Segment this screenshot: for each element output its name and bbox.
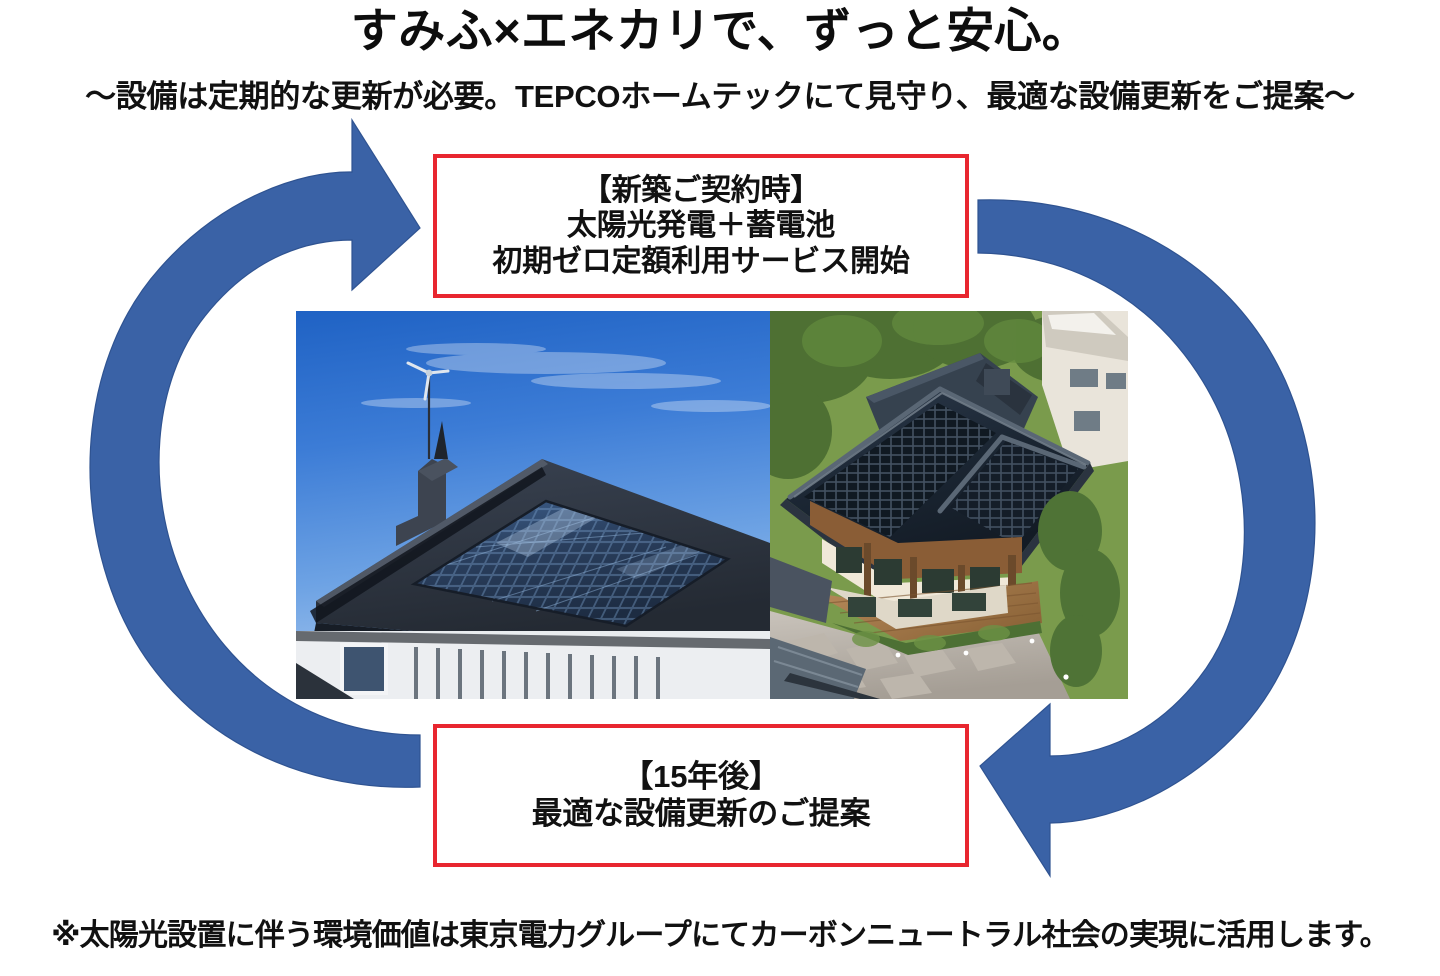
callout-box-after-15-years: 【15年後】 最適な設備更新のご提案 (433, 724, 969, 867)
footnote-text: ※太陽光設置に伴う環境価値は東京電力グループにてカーボンニュートラル社会の実現に… (0, 918, 1440, 954)
callout-box-new-contract: 【新築ご契約時】 太陽光発電＋蓄電池 初期ゼロ定額利用サービス開始 (433, 154, 969, 298)
photo-row (296, 311, 1128, 699)
callout-bottom-line-2: 最適な設備更新のご提案 (532, 796, 871, 832)
callout-top-line-3: 初期ゼロ定額利用サービス開始 (492, 244, 909, 279)
page-title: すみふ×エネカリで、ずっと安心。 (0, 4, 1440, 58)
photo-aerial-solar-house (770, 311, 1128, 699)
page-subtitle: 〜設備は定期的な更新が必要。TEPCOホームテックにて見守り、最適な設備更新をご… (0, 78, 1440, 115)
callout-bottom-line-1: 【15年後】 (622, 759, 779, 795)
callout-top-line-2: 太陽光発電＋蓄電池 (567, 208, 835, 243)
callout-top-line-1: 【新築ご契約時】 (582, 173, 820, 208)
photo-solar-roof-house (296, 311, 770, 699)
